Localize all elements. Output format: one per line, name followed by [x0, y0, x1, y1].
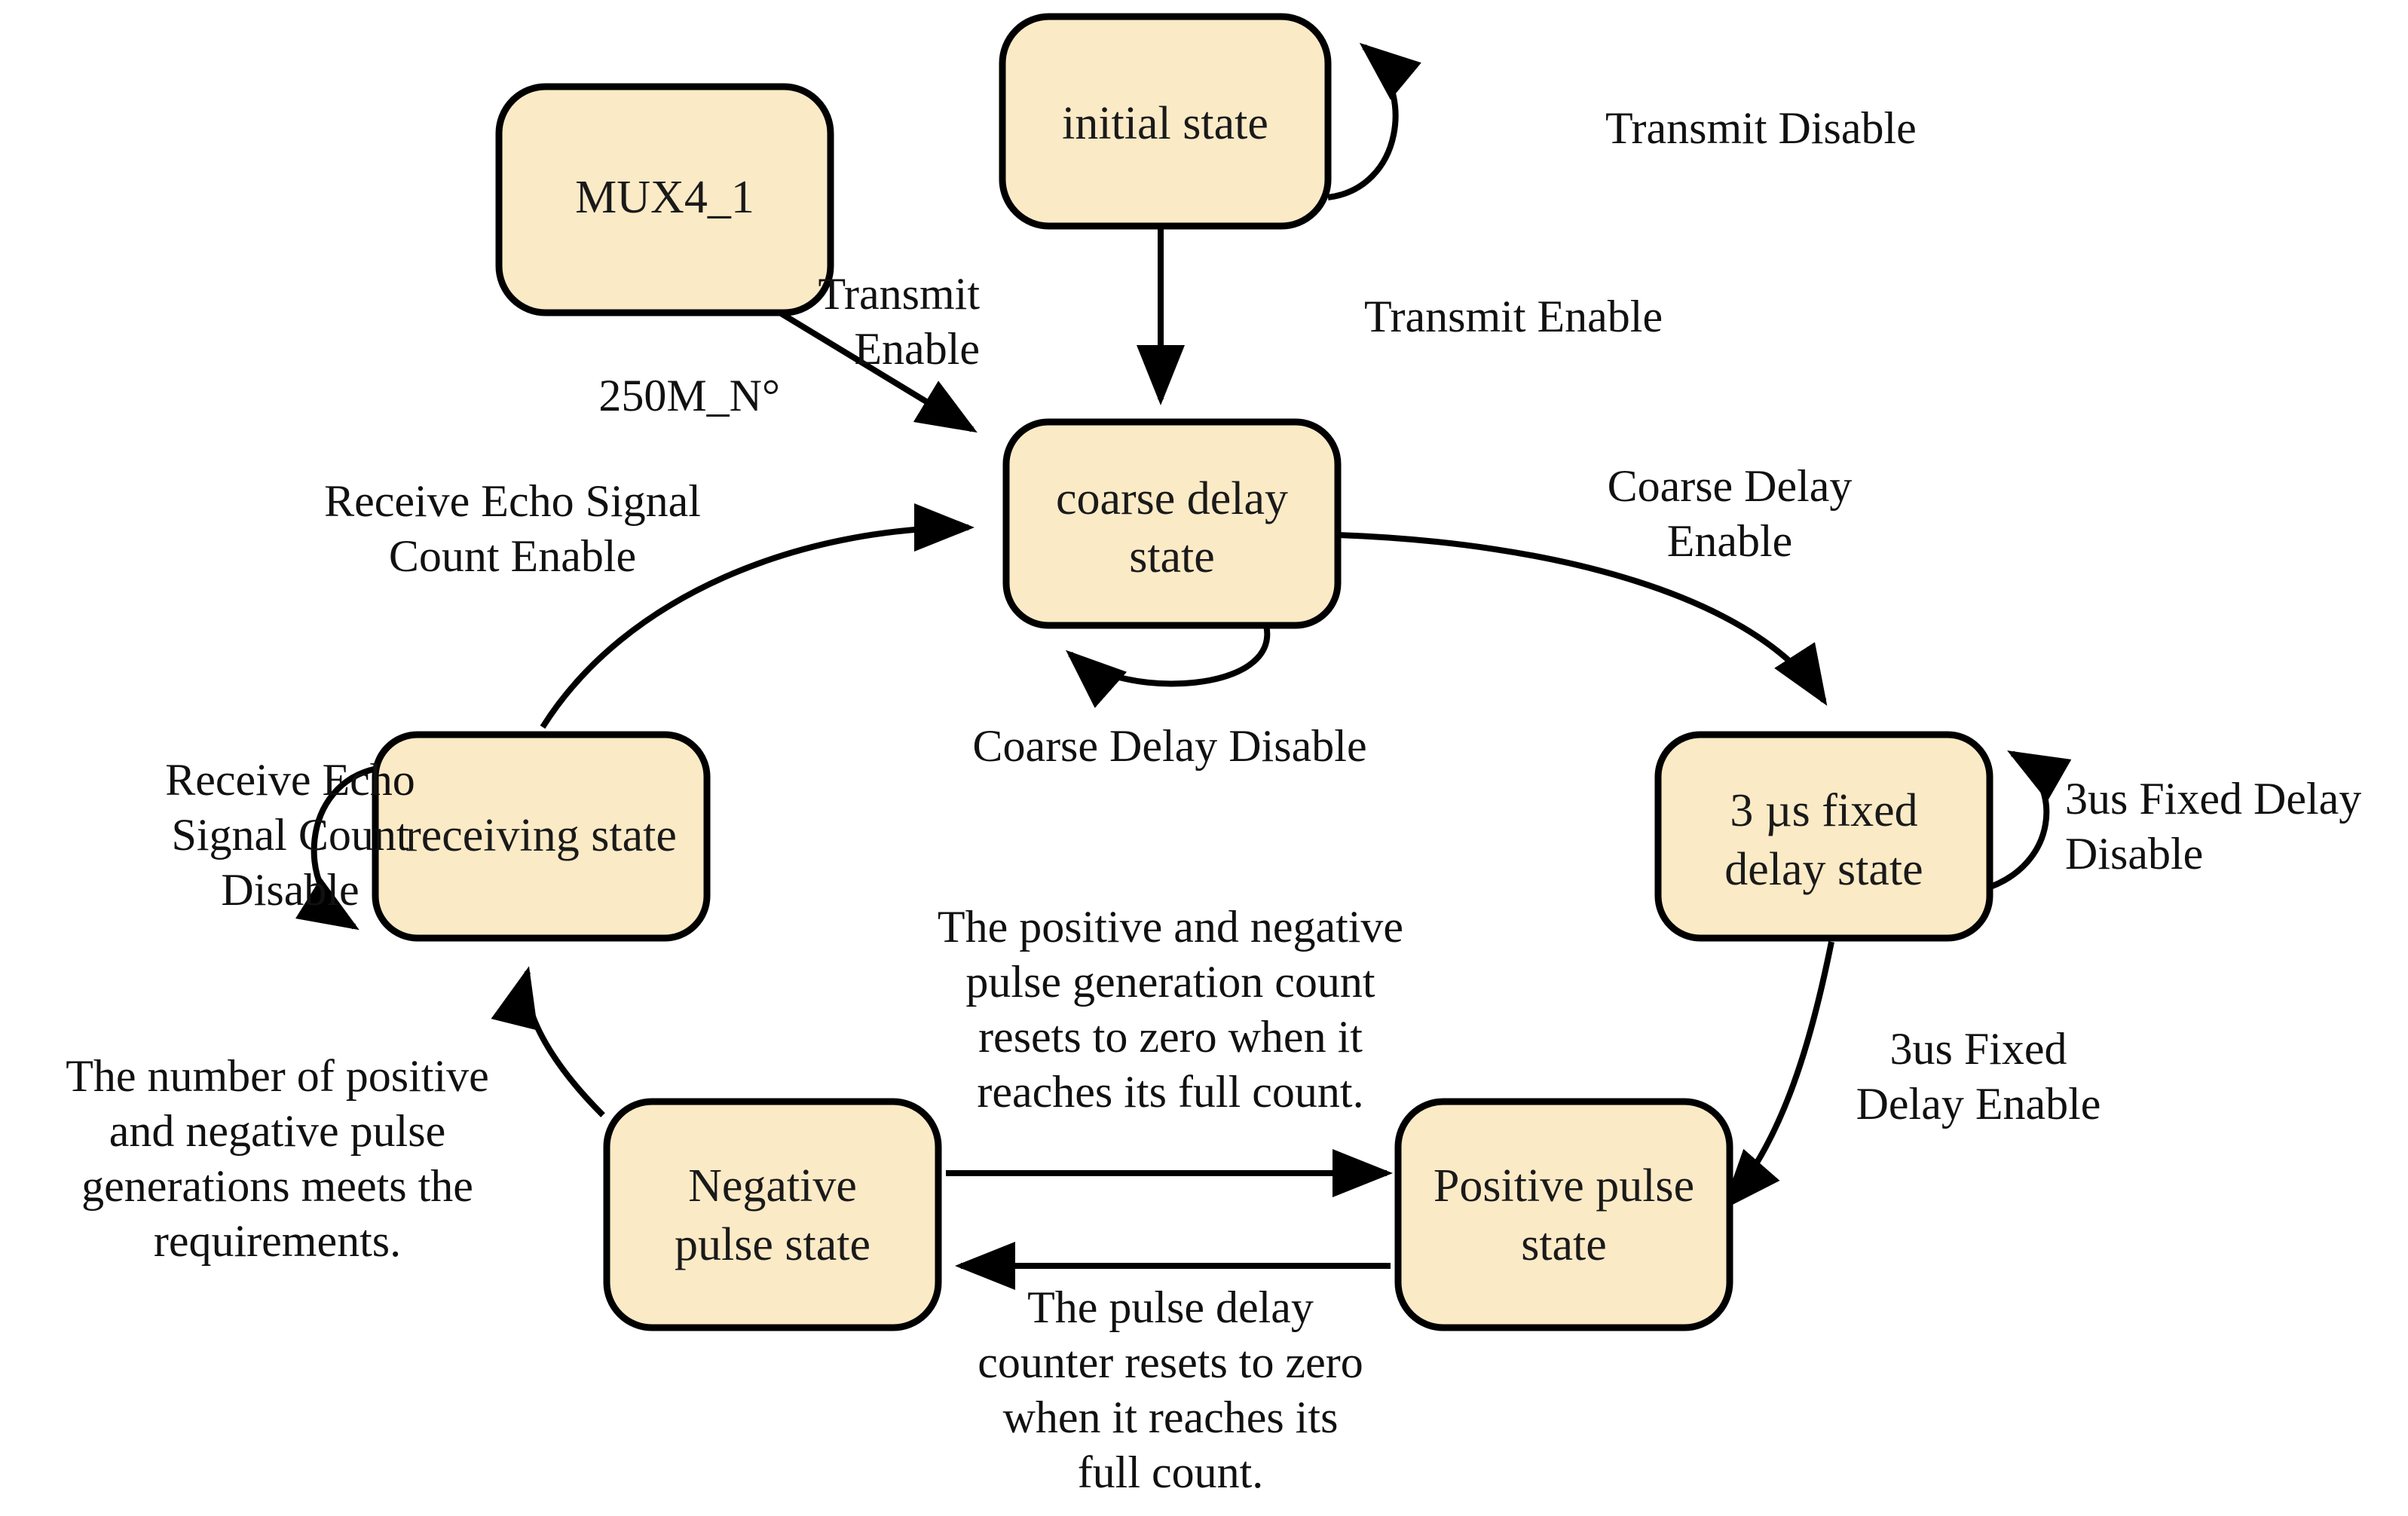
- state-node-initial-state[interactable]: initial state: [1002, 17, 1328, 226]
- edge-label-pulse-generations-meet-requirements: The number of positive and negative puls…: [66, 1051, 489, 1266]
- edge-label-pulse-delay-counter-reset: The pulse delay counter resets to zero w…: [978, 1282, 1363, 1497]
- edge-negative-to-receiving: [526, 972, 603, 1115]
- svg-text:Coarse Delay Disable: Coarse Delay Disable: [972, 721, 1366, 771]
- svg-text:Signal Count: Signal Count: [171, 810, 408, 860]
- svg-text:reaches its full count.: reaches its full count.: [977, 1067, 1363, 1117]
- edge-label-coarse-delay-enable: Coarse Delay Enable: [1608, 461, 1853, 566]
- state-label-initial-state: initial state: [1062, 98, 1268, 149]
- svg-text:and negative pulse: and negative pulse: [109, 1106, 446, 1156]
- svg-text:Receive Echo Signal: Receive Echo Signal: [324, 476, 701, 526]
- svg-text:Disable: Disable: [221, 865, 359, 915]
- svg-text:generations meets the: generations meets the: [81, 1161, 473, 1211]
- svg-text:Transmit: Transmit: [818, 269, 980, 319]
- edge-initial-self: [1328, 47, 1396, 197]
- svg-text:counter resets to zero: counter resets to zero: [978, 1337, 1363, 1387]
- svg-text:pulse generation count: pulse generation count: [965, 957, 1375, 1007]
- state-label-coarse-delay-line2: state: [1129, 531, 1215, 582]
- edge-label-transmit-enable-mux: Transmit Enable: [818, 269, 980, 374]
- svg-text:Delay Enable: Delay Enable: [1856, 1079, 2101, 1129]
- state-node-negative-pulse-state[interactable]: Negative pulse state: [607, 1102, 938, 1328]
- state-label-fixed-delay-line1: 3 µs fixed: [1730, 785, 1917, 836]
- state-machine-diagram: MUX4_1 initial state coarse delay state …: [0, 0, 2408, 1516]
- edge-label-receive-echo-signal-count-enable: Receive Echo Signal Count Enable: [324, 476, 701, 581]
- state-label-receiving-state: receiving state: [405, 810, 677, 861]
- svg-text:requirements.: requirements.: [154, 1216, 401, 1266]
- state-label-negative-pulse-line2: pulse state: [675, 1219, 870, 1270]
- edge-label-3us-fixed-delay-disable: 3us Fixed Delay Disable: [2065, 774, 2361, 879]
- state-label-fixed-delay-line2: delay state: [1724, 844, 1923, 895]
- svg-text:The pulse delay: The pulse delay: [1027, 1282, 1314, 1332]
- svg-text:The positive and negative: The positive and negative: [938, 902, 1403, 952]
- state-label-mux4-1: MUX4_1: [575, 172, 754, 223]
- edge-fixed-to-positive: [1726, 942, 1831, 1206]
- svg-text:Enable: Enable: [1667, 516, 1793, 566]
- edge-label-coarse-delay-disable: Coarse Delay Disable: [972, 721, 1366, 771]
- svg-text:Coarse Delay: Coarse Delay: [1608, 461, 1853, 511]
- svg-text:Disable: Disable: [2065, 829, 2203, 879]
- edge-label-pulse-generation-count-reset: The positive and negative pulse generati…: [938, 902, 1403, 1117]
- svg-text:Receive Echo: Receive Echo: [165, 755, 415, 805]
- state-node-coarse-delay-state[interactable]: coarse delay state: [1006, 422, 1338, 625]
- state-label-negative-pulse-line1: Negative: [688, 1160, 857, 1212]
- fsm-canvas: MUX4_1 initial state coarse delay state …: [0, 0, 2408, 1516]
- svg-text:resets to zero when it: resets to zero when it: [978, 1012, 1363, 1062]
- svg-text:when it reaches its: when it reaches its: [1003, 1392, 1339, 1442]
- state-node-receiving-state[interactable]: receiving state: [375, 735, 707, 938]
- state-node-positive-pulse-state[interactable]: Positive pulse state: [1398, 1102, 1730, 1328]
- svg-text:3us Fixed: 3us Fixed: [1889, 1024, 2067, 1074]
- edge-label-250m-n: 250M_N°: [598, 371, 780, 420]
- state-label-positive-pulse-line2: state: [1521, 1219, 1607, 1270]
- svg-text:3us Fixed Delay: 3us Fixed Delay: [2065, 774, 2361, 824]
- svg-text:The number of positive: The number of positive: [66, 1051, 489, 1101]
- svg-text:full count.: full count.: [1078, 1447, 1264, 1497]
- state-node-3us-fixed-delay-state[interactable]: 3 µs fixed delay state: [1658, 735, 1990, 938]
- state-label-positive-pulse-line1: Positive pulse: [1433, 1160, 1694, 1212]
- state-label-coarse-delay-line1: coarse delay: [1056, 473, 1288, 524]
- edge-coarse-self: [1070, 625, 1267, 683]
- svg-text:Enable: Enable: [854, 324, 980, 374]
- state-node-mux4-1[interactable]: MUX4_1: [499, 87, 831, 313]
- edge-label-transmit-enable-initial: Transmit Enable: [1364, 292, 1663, 341]
- svg-text:Count Enable: Count Enable: [389, 531, 636, 581]
- svg-text:250M_N°: 250M_N°: [598, 371, 780, 420]
- svg-text:Transmit Enable: Transmit Enable: [1364, 292, 1663, 341]
- edge-label-3us-fixed-delay-enable: 3us Fixed Delay Enable: [1856, 1024, 2101, 1129]
- edge-label-transmit-disable: Transmit Disable: [1605, 103, 1917, 153]
- svg-text:Transmit Disable: Transmit Disable: [1605, 103, 1917, 153]
